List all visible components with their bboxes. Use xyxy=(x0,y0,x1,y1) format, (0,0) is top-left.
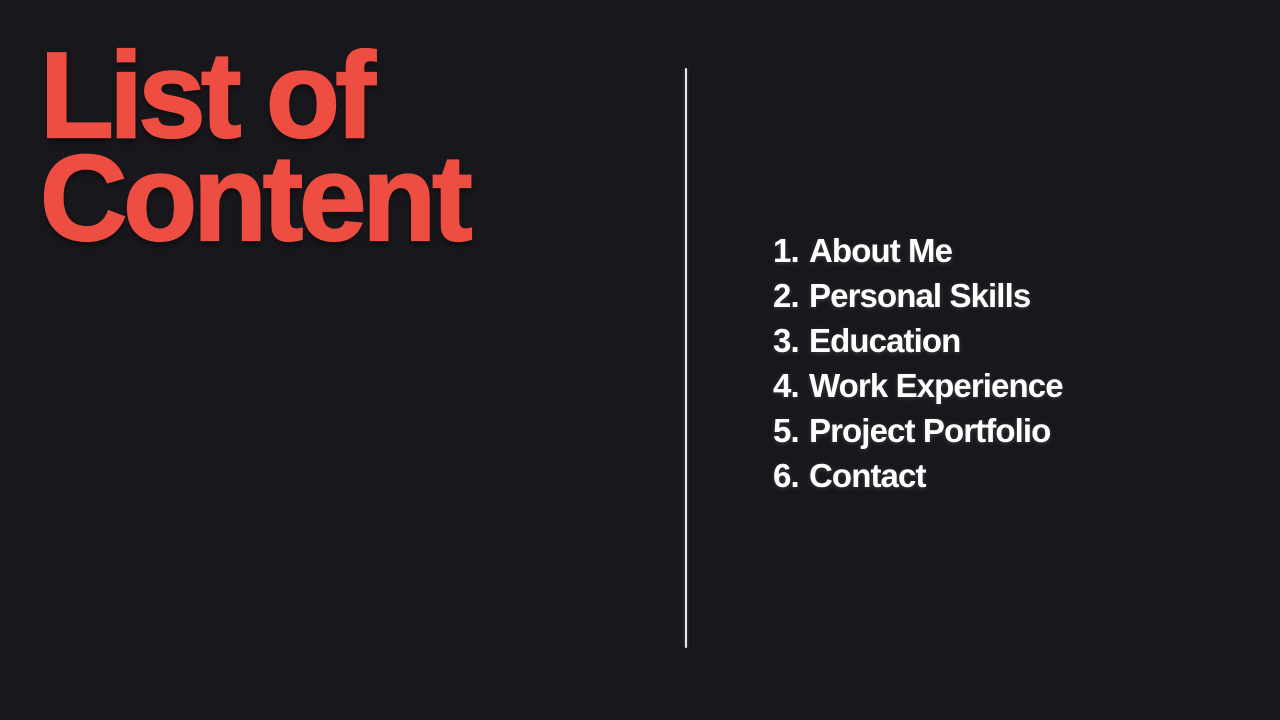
list-item-number: 4. xyxy=(773,363,805,408)
list-item-label: Personal Skills xyxy=(809,273,1030,318)
list-item-label: Work Experience xyxy=(809,363,1063,408)
table-of-contents-list: 1. About Me 2. Personal Skills 3. Educat… xyxy=(773,228,1063,498)
list-item[interactable]: 2. Personal Skills xyxy=(773,273,1063,318)
list-item-label: About Me xyxy=(809,228,952,273)
page-title: List of Content xyxy=(40,44,640,250)
list-item-number: 3. xyxy=(773,318,805,363)
list-item-label: Education xyxy=(809,318,960,363)
list-item-label: Contact xyxy=(809,453,926,498)
list-item[interactable]: 3. Education xyxy=(773,318,1063,363)
list-item[interactable]: 5. Project Portfolio xyxy=(773,408,1063,453)
list-item-number: 5. xyxy=(773,408,805,453)
slide-canvas: List of Content 1. About Me 2. Personal … xyxy=(0,0,1280,720)
list-item[interactable]: 4. Work Experience xyxy=(773,363,1063,408)
list-item-label: Project Portfolio xyxy=(809,408,1050,453)
page-title-line-2: Content xyxy=(40,147,634,250)
list-item-number: 2. xyxy=(773,273,805,318)
list-item-number: 6. xyxy=(773,453,805,498)
list-item-number: 1. xyxy=(773,228,805,273)
vertical-divider xyxy=(685,68,687,648)
list-item[interactable]: 1. About Me xyxy=(773,228,1063,273)
list-item[interactable]: 6. Contact xyxy=(773,453,1063,498)
